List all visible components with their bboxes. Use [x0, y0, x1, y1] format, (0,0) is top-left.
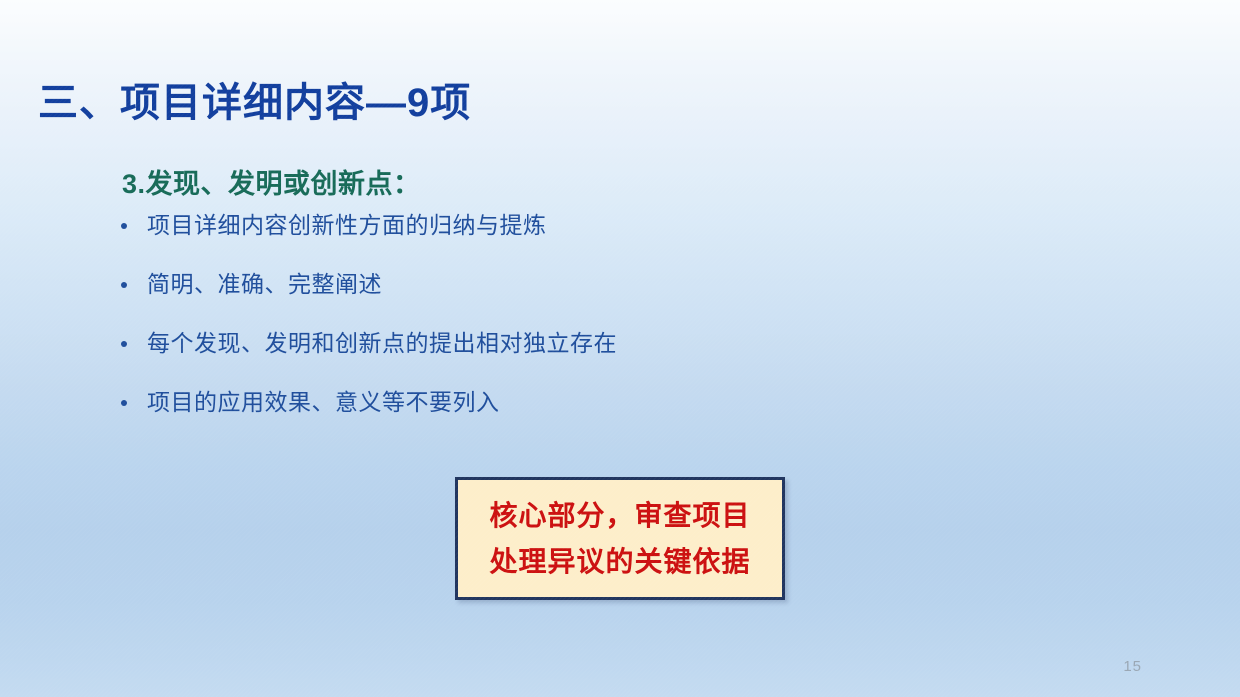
list-item: 项目的应用效果、意义等不要列入: [112, 383, 1012, 442]
list-item-label: 每个发现、发明和创新点的提出相对独立存在: [147, 330, 617, 356]
callout-line-2: 处理异议的关键依据: [489, 539, 750, 585]
list-item-label: 项目的应用效果、意义等不要列入: [147, 389, 500, 415]
bullet-dot-icon: [121, 341, 127, 347]
list-item-label: 简明、准确、完整阐述: [147, 271, 382, 297]
list-item: 项目详细内容创新性方面的归纳与提炼: [112, 206, 1012, 265]
page-number: 15: [1123, 658, 1142, 675]
page-title: 三、项目详细内容—9项: [38, 79, 471, 127]
list-item: 每个发现、发明和创新点的提出相对独立存在: [112, 324, 1012, 383]
callout-box: 核心部分，审查项目 处理异议的关键依据: [455, 477, 785, 600]
bullet-dot-icon: [121, 223, 127, 229]
list-item: 简明、准确、完整阐述: [112, 265, 1012, 324]
section-subtitle: 3.发现、发明或创新点：: [122, 162, 421, 201]
slide-canvas: 三、项目详细内容—9项 3.发现、发明或创新点： 项目详细内容创新性方面的归纳与…: [0, 0, 1240, 697]
callout-line-1: 核心部分，审查项目: [489, 493, 750, 539]
list-item-label: 项目详细内容创新性方面的归纳与提炼: [147, 212, 547, 238]
bullet-list: 项目详细内容创新性方面的归纳与提炼 简明、准确、完整阐述 每个发现、发明和创新点…: [112, 206, 1012, 442]
bullet-dot-icon: [121, 282, 127, 288]
bullet-dot-icon: [121, 400, 127, 406]
